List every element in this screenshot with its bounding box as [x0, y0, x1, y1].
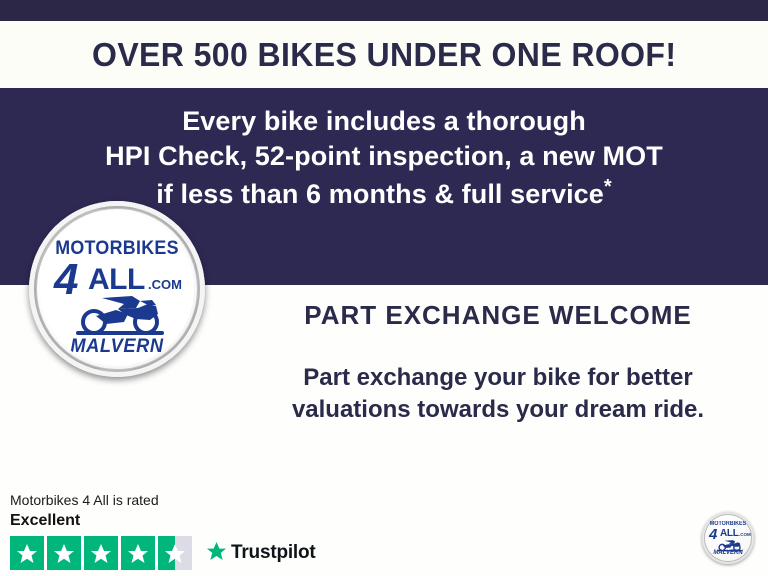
feature-copy-line-1: Every bike includes a thorough: [0, 104, 768, 139]
trustpilot-rating-row: Trustpilot: [10, 536, 330, 570]
logo-disc: MOTORBIKES 4 ALL .COM: [29, 201, 205, 377]
part-exchange-line-1: Part exchange your bike for better: [228, 362, 768, 394]
logo-domain-suffix: .COM: [148, 278, 182, 291]
mini-logo-domain-suffix: .COM: [739, 533, 751, 538]
trustpilot-star-icon: [206, 541, 227, 566]
star-half-icon: [158, 536, 192, 570]
asterisk-marker: *: [604, 176, 612, 198]
mini-logo-word-all: ALL: [720, 529, 739, 539]
star-icon: [121, 536, 155, 570]
company-logo-mini: MOTORBIKES 4 ALL .COM MALVERN: [702, 512, 754, 564]
logo-location-malvern: MALVERN: [43, 336, 191, 358]
logo-word-all: ALL: [88, 265, 145, 295]
trustpilot-stars: [10, 536, 192, 570]
trustpilot-widget[interactable]: Motorbikes 4 All is rated Excellent: [10, 492, 330, 570]
star-icon: [10, 536, 44, 570]
star-icon: [84, 536, 118, 570]
headline-band: OVER 500 BIKES UNDER ONE ROOF!: [0, 21, 768, 88]
star-icon: [47, 536, 81, 570]
part-exchange-heading: PART EXCHANGE WELCOME: [228, 300, 768, 331]
trustpilot-brand-name: Trustpilot: [231, 542, 316, 564]
feature-copy-line-2: HPI Check, 52-point inspection, a new MO…: [0, 139, 768, 174]
motorbike-icon: [66, 292, 170, 338]
trustpilot-rating-word: Excellent: [10, 511, 330, 532]
top-navy-strip: [0, 0, 768, 21]
trustpilot-rated-label: Motorbikes 4 All is rated: [10, 492, 330, 510]
advertisement-banner: OVER 500 BIKES UNDER ONE ROOF! Every bik…: [0, 0, 768, 576]
feature-copy-line-3-text: if less than 6 months & full service: [156, 179, 604, 209]
part-exchange-line-2: valuations towards your dream ride.: [228, 394, 768, 426]
logo-inner: MOTORBIKES 4 ALL .COM: [40, 212, 194, 366]
company-logo: MOTORBIKES 4 ALL .COM: [29, 201, 205, 377]
part-exchange-copy: Part exchange your bike for better valua…: [228, 362, 768, 426]
mini-logo-location-malvern: MALVERN: [702, 550, 754, 556]
feature-copy: Every bike includes a thorough HPI Check…: [0, 104, 768, 212]
page-title: OVER 500 BIKES UNDER ONE ROOF!: [92, 36, 676, 74]
trustpilot-brand[interactable]: Trustpilot: [206, 541, 316, 566]
